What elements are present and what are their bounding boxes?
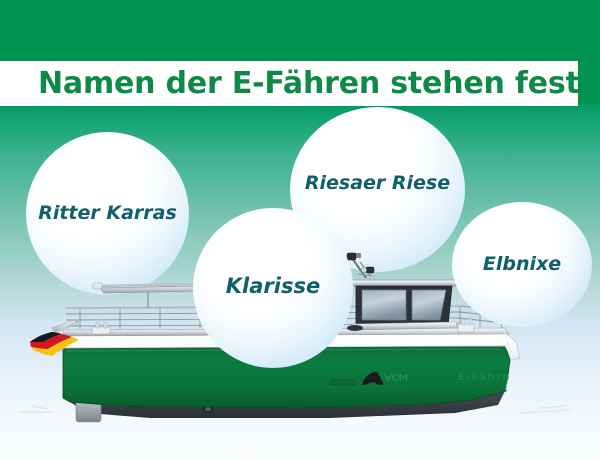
bubble-label: Elbnixe [483, 253, 561, 275]
name-bubble-klarisse: Klarisse [193, 208, 353, 368]
bow-thruster-hub [205, 407, 211, 411]
poster: Namen der E-Fähren stehen fest Ritter Ka… [0, 0, 600, 461]
hull-name-label: E-Fähre [458, 372, 511, 383]
hull-vent [330, 380, 356, 385]
wheelhouse-window-fwd [412, 290, 446, 320]
wheelhouse [352, 280, 460, 330]
operator-logo-text: VCM [384, 373, 408, 384]
bubble-label: Klarisse [226, 274, 320, 298]
operator-logo-subtext: Verkehrsgesellschaft Meissen mbH [364, 384, 408, 387]
bubble-label: Riesaer Riese [305, 172, 450, 194]
background-top-green-band [0, 0, 600, 62]
page-title: Namen der E-Fähren stehen fest [38, 64, 568, 104]
name-bubble-elbnixe: Elbnixe [452, 202, 592, 327]
wheelhouse-window-aft [362, 290, 406, 320]
bubble-label: Ritter Karras [38, 202, 177, 224]
